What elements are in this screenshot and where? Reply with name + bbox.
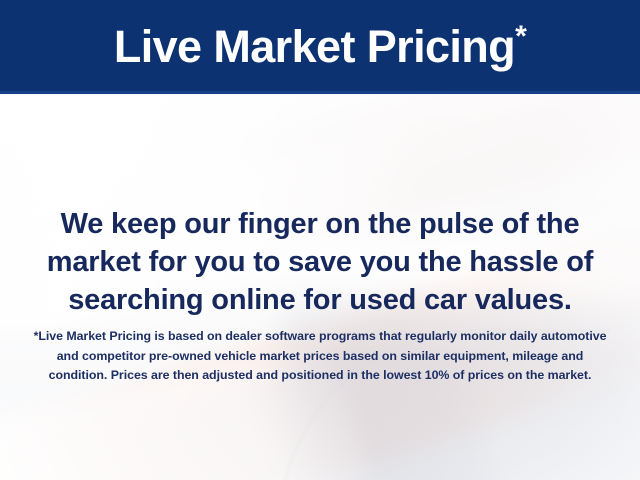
page-title-text: Live Market Pricing bbox=[114, 21, 515, 72]
page-title-asterisk: * bbox=[515, 20, 526, 53]
fine-print-disclaimer: *Live Market Pricing is based on dealer … bbox=[28, 327, 612, 386]
header-banner: Live Market Pricing* bbox=[0, 0, 640, 94]
content-area: We keep our finger on the pulse of the m… bbox=[0, 94, 640, 480]
live-market-pricing-promo-card: Live Market Pricing* We keep our finger … bbox=[0, 0, 640, 480]
page-title: Live Market Pricing* bbox=[114, 24, 526, 69]
headline-text: We keep our finger on the pulse of the m… bbox=[28, 205, 612, 319]
